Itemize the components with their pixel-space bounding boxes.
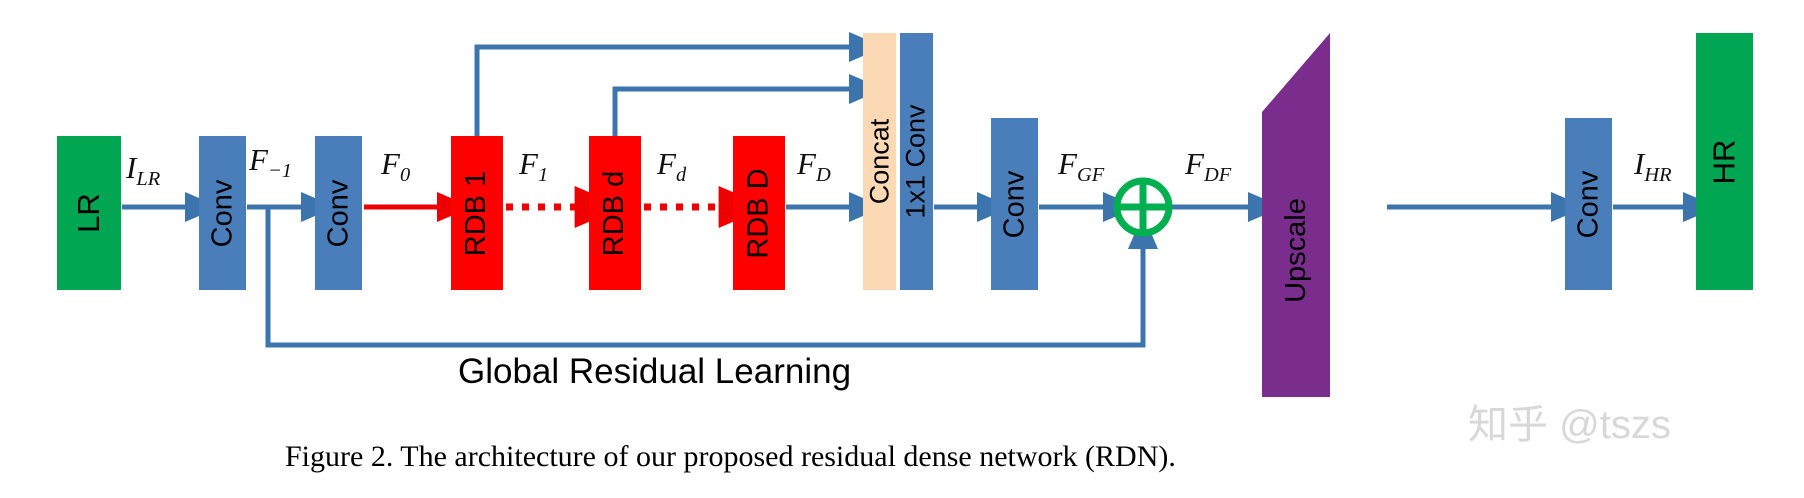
block-label-rdb-D: RDB D (743, 168, 776, 258)
block-label-conv1: Conv (206, 179, 239, 247)
block-label-conv3: Conv (998, 170, 1031, 238)
signal-sub-f-d: d (676, 164, 686, 186)
block-lr[interactable]: LR (57, 136, 121, 290)
figure-canvas: LR Conv Conv RDB 1 RDB d RDB D Concat 1x… (0, 0, 1804, 498)
block-label-hr: HR (1707, 139, 1743, 184)
signal-sub-f-df: DF (1204, 164, 1231, 186)
global-residual-learning-label: Global Residual Learning (458, 352, 851, 392)
signal-base-f-minus1: F (249, 142, 268, 177)
signal-label-i-lr: ILR (126, 150, 160, 191)
watermark: 知乎 @tszs (1468, 392, 1671, 450)
signal-sub-f-1: 1 (538, 164, 548, 186)
signal-sub-f-gf: GF (1077, 164, 1104, 186)
signal-sub-f-minus1: −1 (268, 160, 292, 182)
block-label-concat: Concat (864, 119, 895, 205)
block-label-upscale: Upscale (1280, 198, 1313, 303)
figure-caption: Figure 2. The architecture of our propos… (285, 440, 1176, 474)
signal-sub-i-hr: HR (1644, 164, 1671, 186)
block-conv2[interactable]: Conv (315, 136, 362, 290)
signal-base-f-1: F (519, 146, 538, 181)
block-conv-1x1[interactable]: 1x1 Conv (900, 33, 933, 290)
signal-base-f-0: F (381, 146, 400, 181)
block-label-lr: LR (71, 193, 107, 233)
signal-base-f-d: F (657, 146, 676, 181)
signal-label-f-gf: FGF (1058, 146, 1104, 187)
block-upscale-label[interactable]: Upscale (1270, 120, 1322, 380)
block-label-rdb-1: RDB 1 (461, 170, 494, 255)
block-label-conv4: Conv (1572, 170, 1605, 238)
signal-label-f-1: F1 (519, 146, 548, 187)
signal-base-f-df: F (1185, 146, 1204, 181)
signal-label-f-minus1: F−1 (249, 142, 292, 183)
signal-sub-i-lr: LR (136, 168, 160, 190)
signal-label-f-d: Fd (657, 146, 686, 187)
signal-sub-f-0: 0 (400, 164, 410, 186)
sum-operator-icon (1117, 181, 1169, 233)
block-label-conv2: Conv (322, 179, 355, 247)
skip-rdbd-to-concat (615, 89, 850, 136)
block-concat[interactable]: Concat (863, 33, 896, 290)
block-label-rdb-d: RDB d (599, 170, 632, 255)
block-rdb-1[interactable]: RDB 1 (451, 136, 503, 290)
block-rdb-d[interactable]: RDB d (589, 136, 641, 290)
signal-base-i-lr: I (126, 150, 136, 185)
signal-label-f-0: F0 (381, 146, 410, 187)
signal-base-f-gf: F (1058, 146, 1077, 181)
signal-label-f-D: FD (797, 146, 831, 187)
block-conv1[interactable]: Conv (199, 136, 246, 290)
signal-sub-f-D: D (816, 164, 831, 186)
block-label-conv-1x1: 1x1 Conv (901, 104, 932, 218)
block-rdb-D[interactable]: RDB D (733, 136, 785, 290)
signal-label-i-hr: IHR (1634, 146, 1672, 187)
block-conv3[interactable]: Conv (991, 118, 1038, 290)
block-hr[interactable]: HR (1696, 33, 1753, 290)
signal-base-f-D: F (797, 146, 816, 181)
signal-label-f-df: FDF (1185, 146, 1231, 187)
signal-base-i-hr: I (1634, 146, 1644, 181)
block-conv4[interactable]: Conv (1565, 118, 1612, 290)
